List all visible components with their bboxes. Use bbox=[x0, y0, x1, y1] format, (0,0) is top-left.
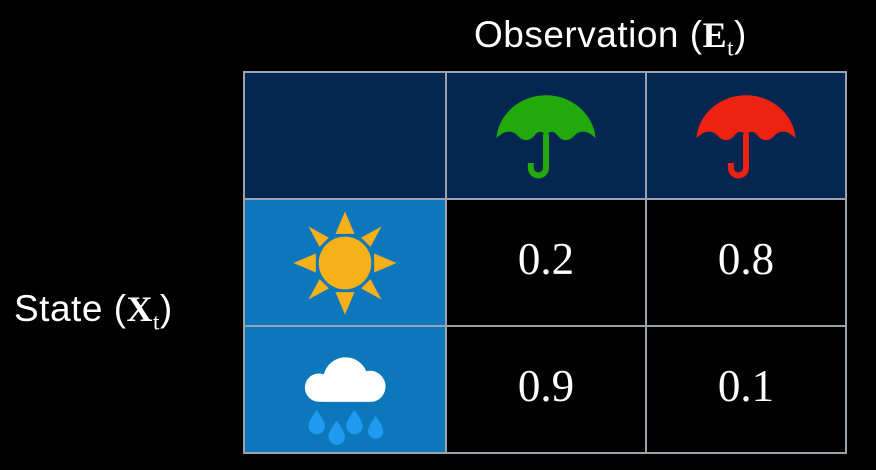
red-umbrella-icon bbox=[647, 73, 845, 198]
table-row: 0.2 0.8 bbox=[244, 199, 846, 326]
state-close-paren: ) bbox=[160, 288, 173, 329]
header-cell-umbrella-false bbox=[646, 72, 846, 199]
table-row: 0.9 0.1 bbox=[244, 326, 846, 453]
probability-value: 0.8 bbox=[647, 237, 845, 288]
observation-variable: E bbox=[703, 15, 728, 55]
state-axis-label: State (Xt) bbox=[14, 288, 173, 330]
state-subscript: t bbox=[153, 309, 160, 334]
observation-axis-label: Observation (Et) bbox=[474, 14, 747, 56]
sensor-model-figure: Observation (Et) State (Xt) bbox=[0, 0, 876, 470]
table-header-row bbox=[244, 72, 846, 199]
probability-cell: 0.9 bbox=[446, 326, 646, 453]
probability-cell: 0.2 bbox=[446, 199, 646, 326]
state-cell-rainy bbox=[244, 326, 446, 453]
probability-cell: 0.8 bbox=[646, 199, 846, 326]
sensor-model-table: 0.2 0.8 bbox=[243, 71, 847, 454]
observation-label-text: Observation bbox=[474, 14, 690, 55]
corner-cell bbox=[244, 72, 446, 199]
state-open-paren: ( bbox=[114, 288, 127, 329]
header-cell-umbrella-true bbox=[446, 72, 646, 199]
probability-value: 0.9 bbox=[447, 364, 645, 415]
raindrops bbox=[308, 410, 383, 445]
probability-value: 0.1 bbox=[647, 364, 845, 415]
probability-value: 0.2 bbox=[447, 237, 645, 288]
rain-cloud-icon bbox=[245, 327, 445, 452]
observation-open-paren: ( bbox=[690, 14, 703, 55]
observation-subscript: t bbox=[727, 35, 734, 60]
probability-cell: 0.1 bbox=[646, 326, 846, 453]
green-umbrella-icon bbox=[447, 73, 645, 198]
state-label-text: State bbox=[14, 288, 114, 329]
observation-close-paren: ) bbox=[734, 14, 747, 55]
sun-icon bbox=[245, 200, 445, 325]
state-variable: X bbox=[127, 289, 154, 329]
state-cell-sunny bbox=[244, 199, 446, 326]
